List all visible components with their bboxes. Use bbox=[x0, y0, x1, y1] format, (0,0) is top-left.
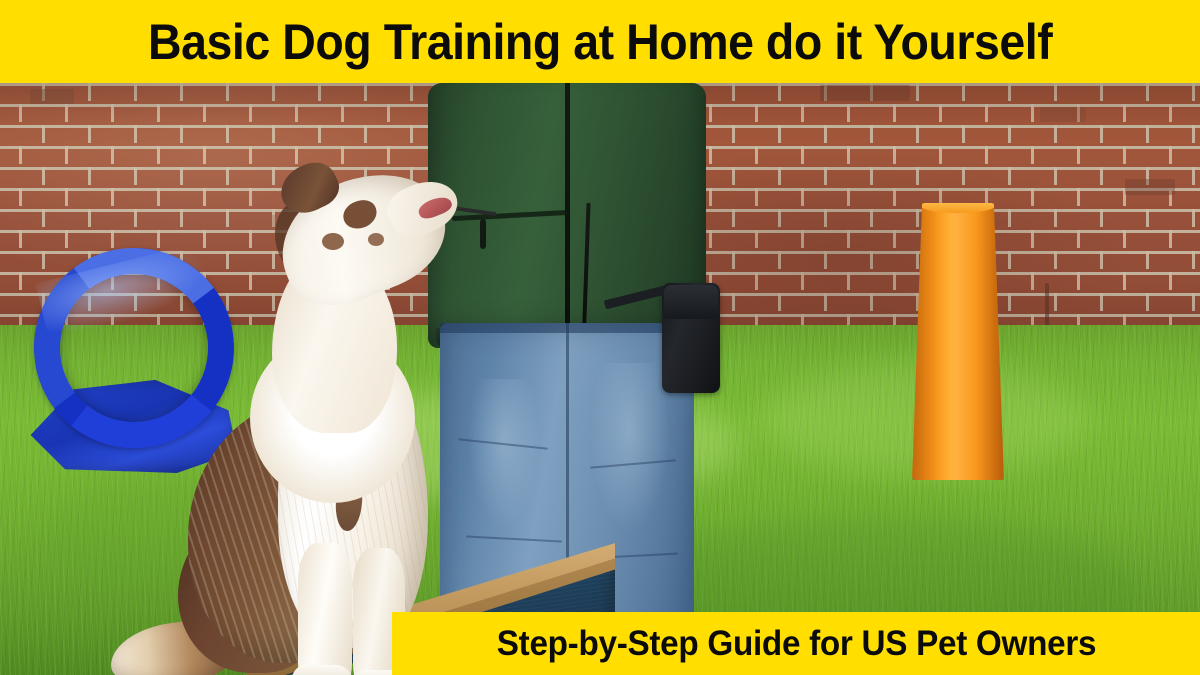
dog-foreleg bbox=[298, 543, 352, 675]
orange-training-cone bbox=[912, 203, 1004, 480]
header-banner: Basic Dog Training at Home do it Yoursel… bbox=[0, 0, 1200, 83]
dog bbox=[100, 143, 460, 675]
dog-paw bbox=[292, 665, 352, 675]
dog-merle-patch bbox=[368, 233, 384, 246]
poster-canvas: Basic Dog Training at Home do it Yoursel… bbox=[0, 0, 1200, 675]
page-subtitle: Step-by-Step Guide for US Pet Owners bbox=[496, 625, 1095, 662]
treat-pouch bbox=[662, 283, 720, 393]
hero-photo bbox=[0, 83, 1200, 675]
page-title: Basic Dog Training at Home do it Yoursel… bbox=[148, 16, 1052, 68]
dog-merle-patch bbox=[322, 233, 344, 250]
footer-banner: Step-by-Step Guide for US Pet Owners bbox=[392, 612, 1200, 675]
